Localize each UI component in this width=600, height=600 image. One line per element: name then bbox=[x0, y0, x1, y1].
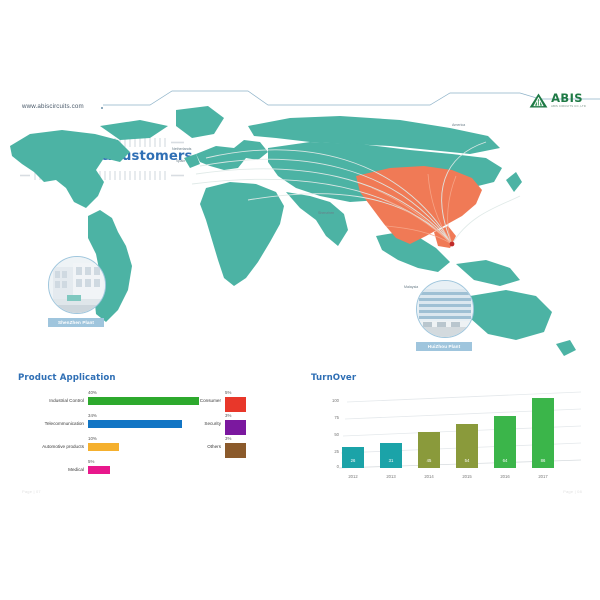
bar-fill-industrial-control bbox=[88, 397, 199, 405]
swatch-row: Consumer 5% bbox=[185, 390, 265, 413]
turnover-bar-value: 86 bbox=[532, 458, 554, 463]
x-tick-2015: 2015 bbox=[452, 474, 482, 479]
bar-label: Automotive products bbox=[18, 444, 84, 449]
shenzhen-plant-photo bbox=[48, 256, 106, 314]
y-tick-100: 100 bbox=[323, 398, 339, 403]
footer-page-left: Page | 07 bbox=[22, 489, 41, 494]
turnover-plot-area: 26 31 45 54 64 86 2012 2013 2014 2015 20… bbox=[338, 390, 578, 468]
swatch-label: Others bbox=[185, 444, 221, 449]
turnover-title: TurnOver bbox=[311, 373, 356, 383]
turnover-bar-value: 26 bbox=[342, 458, 364, 463]
turnover-bar-value: 31 bbox=[380, 458, 402, 463]
bar-row: Telecommunication 34% bbox=[18, 413, 203, 436]
svg-text:Netherlands: Netherlands bbox=[172, 147, 192, 151]
bar-row: Automotive products 10% bbox=[18, 436, 203, 459]
bar-label: Telecommunication bbox=[18, 421, 84, 426]
bar-value-label: 5% bbox=[88, 459, 94, 464]
callout-huizhou-plant[interactable]: HuiZhou Plant bbox=[416, 280, 474, 351]
bar-label: Industrial Control bbox=[18, 398, 84, 403]
bar-row: Industrial Control 40% bbox=[18, 390, 203, 413]
bar-value-label: 40% bbox=[88, 390, 97, 395]
svg-text:Shenzhen: Shenzhen bbox=[318, 211, 334, 215]
huizhou-plant-caption: HuiZhou Plant bbox=[416, 342, 472, 351]
x-tick-2012: 2012 bbox=[338, 474, 368, 479]
callout-shenzhen-plant[interactable]: ShenZhen Plant bbox=[48, 256, 106, 327]
turnover-bar-2017: 86 bbox=[532, 398, 554, 468]
swatch-box-security bbox=[225, 420, 246, 435]
bar-label: Medical bbox=[18, 467, 84, 472]
x-tick-2016: 2016 bbox=[490, 474, 520, 479]
product-application-swatch-list: Consumer 5% Security 3% Others 3% bbox=[185, 390, 265, 459]
y-tick-0: 0 bbox=[323, 464, 339, 469]
turnover-bar-value: 45 bbox=[418, 458, 440, 463]
turnover-bar-2012: 26 bbox=[342, 447, 364, 468]
page-header bbox=[0, 0, 600, 40]
shenzhen-plant-caption: ShenZhen Plant bbox=[48, 318, 104, 327]
svg-text:America: America bbox=[452, 123, 465, 127]
map-marker-shenzhen bbox=[450, 242, 455, 247]
swatch-label: Security bbox=[185, 421, 221, 426]
product-application-bar-list: Industrial Control 40% Telecommunication… bbox=[18, 390, 203, 482]
bar-value-label: 34% bbox=[88, 413, 97, 418]
map-highlight-china bbox=[356, 166, 482, 244]
swatch-box-consumer bbox=[225, 397, 246, 412]
swatch-label: Consumer bbox=[185, 398, 221, 403]
svg-text:Spain: Spain bbox=[176, 159, 185, 163]
swatch-value-label: 5% bbox=[225, 390, 231, 395]
swatch-box-others bbox=[225, 443, 246, 458]
y-tick-50: 50 bbox=[323, 432, 339, 437]
huizhou-plant-photo bbox=[416, 280, 474, 338]
x-tick-2014: 2014 bbox=[414, 474, 444, 479]
turnover-bar-2016: 64 bbox=[494, 416, 516, 468]
product-application-title: Product Application bbox=[18, 373, 116, 383]
y-tick-25: 25 bbox=[323, 449, 339, 454]
swatch-row: Others 3% bbox=[185, 436, 265, 459]
footer-page-right: Page | 08 bbox=[563, 489, 582, 494]
bar-fill-telecommunication bbox=[88, 420, 182, 428]
turnover-chart: 100 75 50 25 0 26 31 45 54 64 86 2012 20… bbox=[311, 388, 583, 488]
bar-fill-automotive-products bbox=[88, 443, 119, 451]
turnover-bar-2014: 45 bbox=[418, 432, 440, 468]
turnover-bar-value: 54 bbox=[456, 458, 478, 463]
y-tick-75: 75 bbox=[323, 415, 339, 420]
swatch-value-label: 3% bbox=[225, 436, 231, 441]
bar-fill-medical bbox=[88, 466, 110, 474]
world-map: Netherlands Spain America Malaysia Shenz… bbox=[0, 96, 600, 376]
x-tick-2017: 2017 bbox=[528, 474, 558, 479]
swatch-value-label: 3% bbox=[225, 413, 231, 418]
bar-row: Medical 5% bbox=[18, 459, 203, 482]
bar-value-label: 10% bbox=[88, 436, 97, 441]
turnover-bar-value: 64 bbox=[494, 458, 516, 463]
x-tick-2013: 2013 bbox=[376, 474, 406, 479]
turnover-bar-2015: 54 bbox=[456, 424, 478, 468]
swatch-row: Security 3% bbox=[185, 413, 265, 436]
turnover-bar-2013: 31 bbox=[380, 443, 402, 468]
